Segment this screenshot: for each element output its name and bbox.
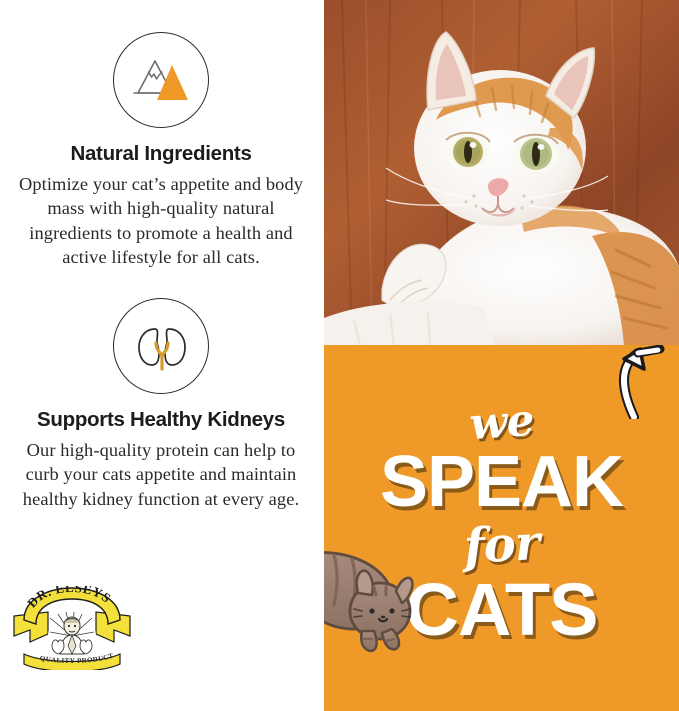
curved-arrow-icon [604, 345, 679, 419]
mountain-icon [113, 32, 209, 128]
kidneys-icon [113, 298, 209, 394]
features-column: Natural Ingredients Optimize your cat’s … [0, 0, 322, 711]
headline-panel: we SPEAK for CATS [324, 345, 679, 711]
cat-photo [324, 0, 679, 345]
feature-title: Supports Healthy Kidneys [0, 408, 322, 432]
feature-body: Optimize your cat’s appetite and body ma… [16, 172, 306, 270]
feature-title: Natural Ingredients [0, 142, 322, 166]
feature-natural-ingredients: Natural Ingredients Optimize your cat’s … [0, 32, 322, 270]
leaping-cat-illustration [324, 523, 426, 653]
hero-column: we SPEAK for CATS [322, 0, 679, 711]
feature-body: Our high-quality protein can help to cur… [16, 438, 306, 511]
feature-supports-healthy-kidneys: Supports Healthy Kidneys Our high-qualit… [0, 298, 322, 511]
promo-page: Natural Ingredients Optimize your cat’s … [0, 0, 679, 711]
headline-line-speak: SPEAK [324, 446, 679, 518]
brand-logo: DR. ELSEYS [8, 586, 136, 670]
